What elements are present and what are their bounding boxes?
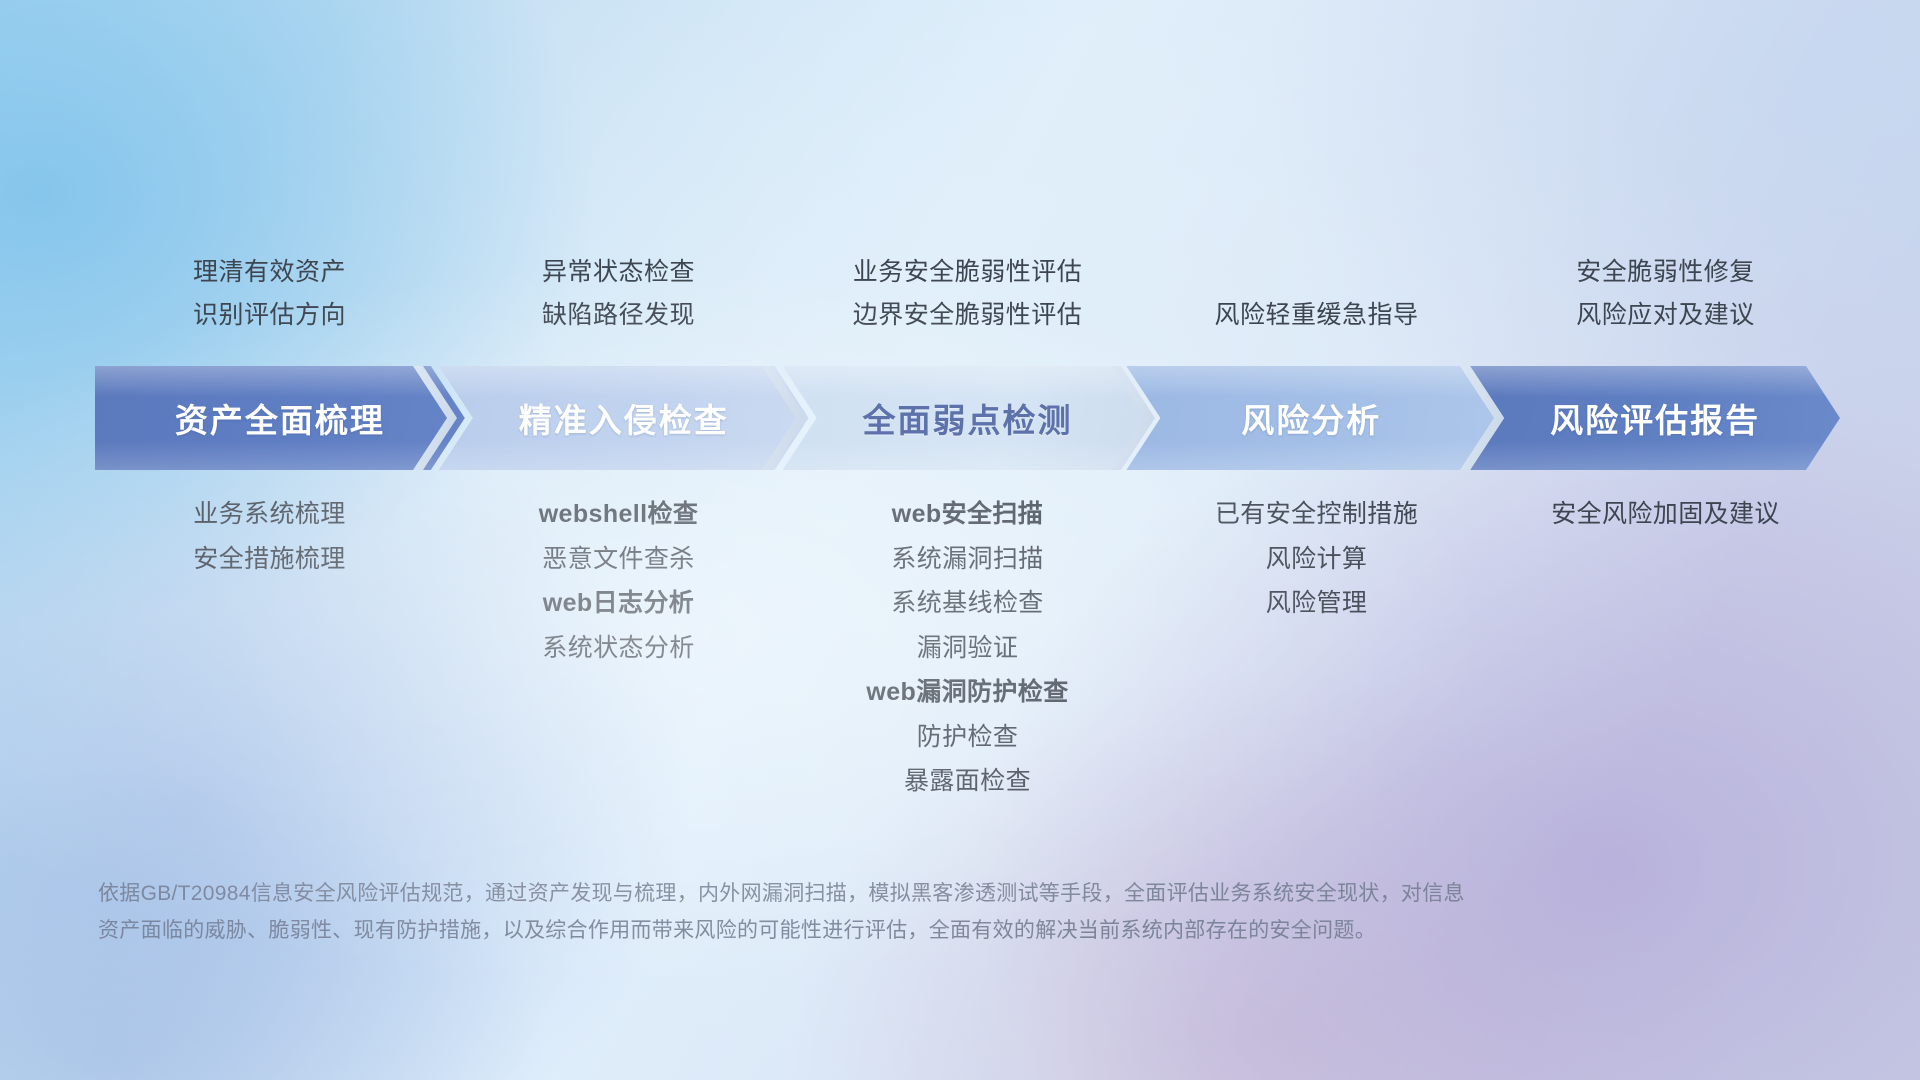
top-item: 风险应对及建议 — [1576, 299, 1755, 332]
bottom-item: webshell检查 — [539, 498, 699, 531]
arrow-label: 风险评估报告 — [1550, 394, 1760, 442]
bottom-labels-row: 业务系统梳理安全措施梳理webshell检查恶意文件查杀web日志分析系统状态分… — [95, 498, 1840, 798]
bottom-column-5: 安全风险加固及建议 — [1491, 498, 1840, 798]
top-column-3: 业务安全脆弱性评估边界安全脆弱性评估 — [793, 236, 1142, 332]
process-arrow-band: 资产全面梳理精准入侵检查全面弱点检测风险分析风险评估报告 — [95, 366, 1840, 470]
bottom-item: 风险计算 — [1266, 543, 1368, 576]
arrow-label: 风险分析 — [1241, 394, 1381, 442]
arrow-label: 全面弱点检测 — [862, 394, 1072, 442]
bottom-item: 漏洞验证 — [917, 632, 1019, 665]
bottom-item: 系统漏洞扫描 — [891, 543, 1043, 576]
top-item: 安全脆弱性修复 — [1576, 256, 1755, 289]
footer-description: 依据GB/T20984信息安全风险评估规范，通过资产发现与梳理，内外网漏洞扫描，… — [98, 876, 1628, 950]
process-arrow-stage-3[interactable]: 全面弱点检测 — [783, 366, 1153, 470]
bottom-item: 安全措施梳理 — [193, 543, 345, 576]
top-item: 理清有效资产 — [193, 256, 346, 289]
risk-assessment-process-diagram: 理清有效资产识别评估方向异常状态检查缺陷路径发现业务安全脆弱性评估边界安全脆弱性… — [0, 0, 1920, 1080]
top-column-1: 理清有效资产识别评估方向 — [95, 236, 444, 332]
bottom-item: 系统基线检查 — [891, 587, 1043, 620]
bottom-item: 业务系统梳理 — [193, 498, 345, 531]
bottom-item: 暴露面检查 — [904, 765, 1031, 798]
bottom-item: 恶意文件查杀 — [542, 543, 694, 576]
footer-line-1: 依据GB/T20984信息安全风险评估规范，通过资产发现与梳理，内外网漏洞扫描，… — [98, 876, 1628, 913]
bottom-item: web安全扫描 — [892, 498, 1043, 531]
footer-line-2: 资产面临的威胁、脆弱性、现有防护措施，以及综合作用而带来风险的可能性进行评估，全… — [98, 913, 1628, 950]
process-arrow-stage-1[interactable]: 资产全面梳理 — [95, 366, 465, 470]
top-item: 风险轻重缓急指导 — [1214, 299, 1418, 332]
arrow-label: 资产全面梳理 — [175, 394, 385, 442]
process-arrow-stage-5[interactable]: 风险评估报告 — [1470, 366, 1840, 470]
bottom-item: web日志分析 — [543, 587, 694, 620]
top-item: 异常状态检查 — [542, 256, 695, 289]
bottom-column-2: webshell检查恶意文件查杀web日志分析系统状态分析 — [444, 498, 793, 798]
top-item: 缺陷路径发现 — [542, 299, 695, 332]
bottom-item: 防护检查 — [917, 721, 1019, 754]
arrow-label: 精准入侵检查 — [519, 394, 729, 442]
bottom-item: 风险管理 — [1266, 587, 1368, 620]
bottom-item: 安全风险加固及建议 — [1551, 498, 1780, 531]
top-item: 边界安全脆弱性评估 — [853, 299, 1083, 332]
bottom-item: 已有安全控制措施 — [1215, 498, 1418, 531]
process-arrow-stage-4[interactable]: 风险分析 — [1126, 366, 1496, 470]
top-item: 识别评估方向 — [193, 299, 346, 332]
bottom-item: 系统状态分析 — [542, 632, 694, 665]
process-arrow-stage-2[interactable]: 精准入侵检查 — [439, 366, 809, 470]
bottom-column-1: 业务系统梳理安全措施梳理 — [95, 498, 444, 798]
top-labels-row: 理清有效资产识别评估方向异常状态检查缺陷路径发现业务安全脆弱性评估边界安全脆弱性… — [95, 236, 1840, 332]
top-column-2: 异常状态检查缺陷路径发现 — [444, 236, 793, 332]
top-column-4: 风险轻重缓急指导 — [1142, 236, 1491, 332]
top-item: 业务安全脆弱性评估 — [853, 256, 1083, 289]
bottom-item: web漏洞防护检查 — [866, 676, 1068, 709]
top-column-5: 安全脆弱性修复风险应对及建议 — [1491, 236, 1840, 332]
bottom-column-3: web安全扫描系统漏洞扫描系统基线检查漏洞验证web漏洞防护检查防护检查暴露面检… — [793, 498, 1142, 798]
bottom-column-4: 已有安全控制措施风险计算风险管理 — [1142, 498, 1491, 798]
